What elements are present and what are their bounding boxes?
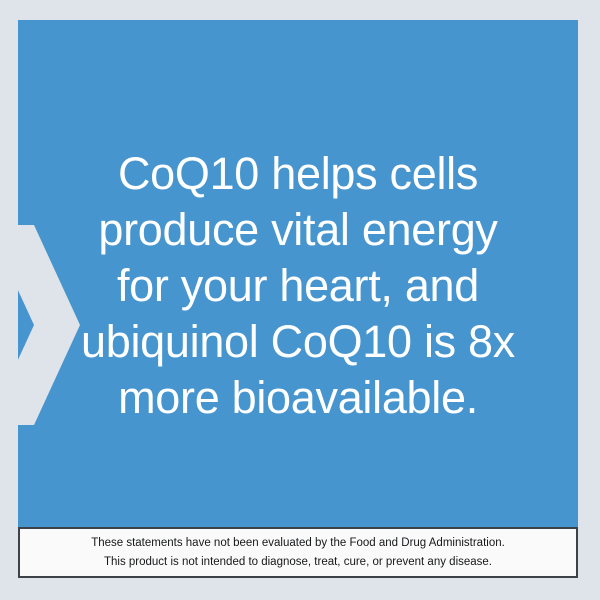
headline-line-3: for your heart, and [18, 258, 578, 314]
headline-line-1: CoQ10 helps cells [18, 146, 578, 202]
disclaimer-line-1: These statements have not been evaluated… [91, 534, 505, 553]
headline-line-4: ubiquinol CoQ10 is 8x [18, 314, 578, 370]
headline-text: CoQ10 helps cells produce vital energy f… [18, 146, 578, 426]
disclaimer-line-2: This product is not intended to diagnose… [104, 553, 492, 572]
headline-line-5: more bioavailable. [18, 370, 578, 426]
fda-disclaimer: These statements have not been evaluated… [18, 527, 578, 578]
headline-line-2: produce vital energy [18, 202, 578, 258]
promo-card: CoQ10 helps cells produce vital energy f… [0, 0, 600, 600]
